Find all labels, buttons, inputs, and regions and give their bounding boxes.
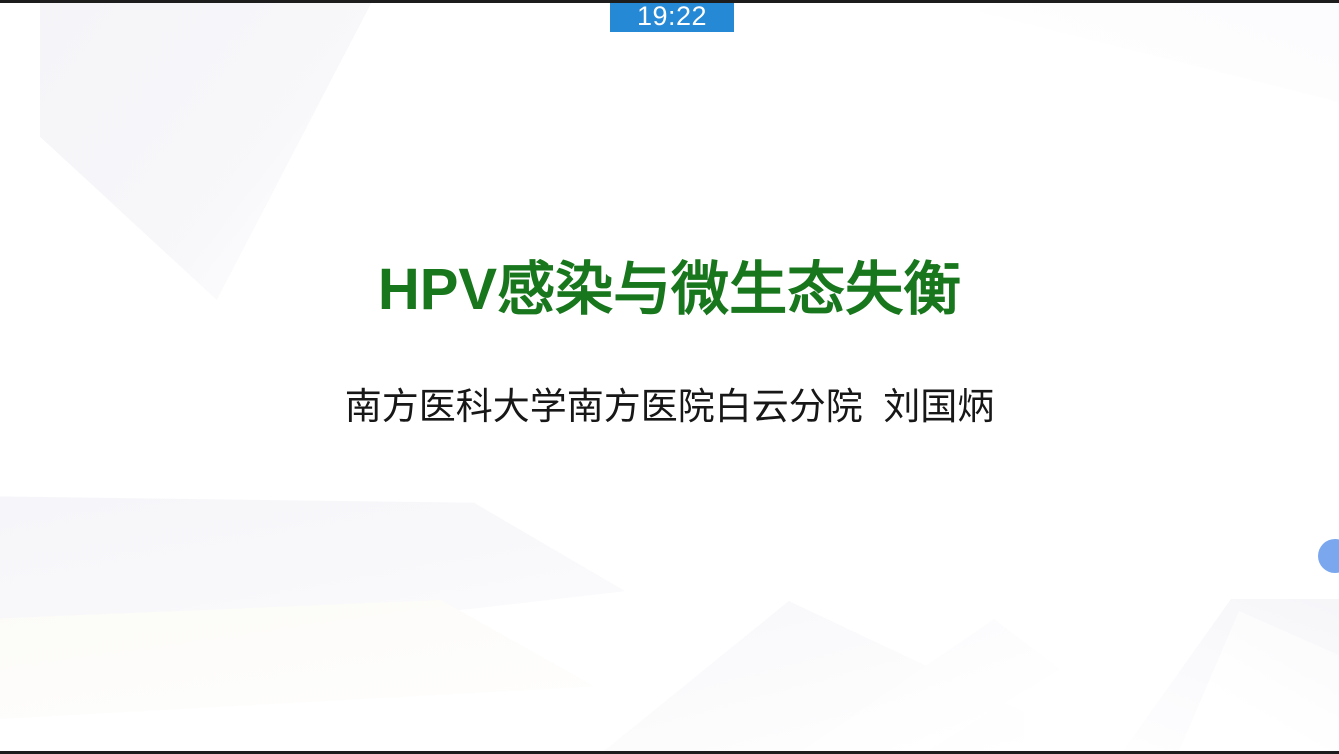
decorative-shape-bottom-band	[0, 496, 810, 666]
accent-dot	[1318, 539, 1339, 573]
letterbox-bar-top	[0, 0, 1339, 3]
slide-title: HPV感染与微生态失衡	[378, 258, 961, 323]
decorative-shape-top-left	[40, 0, 560, 300]
decorative-shape-bottom-right-2	[1179, 611, 1339, 751]
video-timestamp-label: 19:22	[637, 3, 707, 30]
decorative-shape-top-right	[979, 0, 1339, 200]
video-player-screen: HPV感染与微生态失衡 南方医科大学南方医院白云分院 刘国炳 19:22	[0, 0, 1339, 754]
decorative-shape-bottom-peak-1	[604, 601, 1024, 751]
presentation-slide: HPV感染与微生态失衡 南方医科大学南方医院白云分院 刘国炳	[0, 0, 1339, 754]
decorative-shape-bottom-sliver	[0, 600, 620, 720]
video-timestamp-badge: 19:22	[610, 0, 734, 32]
decorative-shape-bottom-right	[1039, 599, 1339, 751]
slide-text-block: HPV感染与微生态失衡 南方医科大学南方医院白云分院 刘国炳	[0, 0, 1339, 754]
decorative-shape-bottom-peak-2	[760, 619, 1060, 751]
slide-subtitle: 南方医科大学南方医院白云分院 刘国炳	[345, 385, 995, 429]
